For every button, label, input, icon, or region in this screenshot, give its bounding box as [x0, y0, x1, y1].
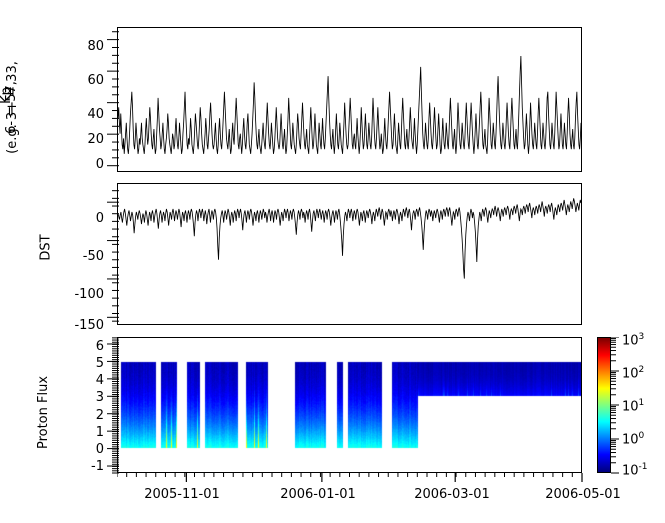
dst-ylabel: DST	[39, 234, 54, 260]
kp-ytick-0: 0	[70, 157, 104, 172]
colorbar-gradient	[597, 337, 611, 473]
kp-plot-area	[117, 27, 582, 172]
dst-series-svg	[118, 184, 581, 324]
kp-ytick-60: 60	[70, 73, 104, 88]
dst-ytick-m150: -150	[58, 318, 104, 333]
cbar-label-1e1: 101	[622, 398, 644, 414]
flux-spectrogram	[118, 338, 581, 472]
colorbar-tick-marks	[611, 337, 621, 474]
xtick-2006-05-01: 2006-05-01	[533, 487, 633, 502]
flux-ytick-0: 0	[74, 442, 104, 457]
dst-ytick-0: 0	[58, 211, 104, 226]
flux-ylabel: Proton Flux	[36, 376, 51, 449]
flux-ytick-6: 6	[74, 339, 104, 354]
cbar-label-1e3: 103	[622, 332, 644, 348]
flux-ytick-m1: -1	[68, 459, 104, 474]
flux-ytick-2: 2	[74, 408, 104, 423]
cbar-label-1em1: 10-1	[622, 462, 648, 478]
dst-ytick-m100: -100	[58, 287, 104, 302]
flux-ytick-5: 5	[74, 356, 104, 371]
dst-ytick-marks	[104, 183, 120, 326]
cbar-label-1e0: 100	[622, 431, 644, 447]
xtick-2006-03-01: 2006-03-01	[402, 487, 502, 502]
kp-ylabel-line3: 6- = 57,	[4, 81, 19, 134]
kp-ytick-80: 80	[70, 39, 104, 54]
flux-ytick-1: 1	[74, 425, 104, 440]
dst-plot-area	[117, 183, 582, 325]
flux-plot-area	[117, 337, 582, 473]
kp-series-svg	[118, 28, 581, 171]
cbar-label-1e2: 102	[622, 365, 644, 381]
xtick-2005-11-01: 2005-11-01	[132, 487, 232, 502]
kp-ytick-20: 20	[70, 132, 104, 147]
flux-ytick-marks	[104, 337, 120, 474]
figure-root: Kp (e.g. 3+ = 33, 6- = 57, 4 = 40, etc.)…	[0, 0, 665, 523]
kp-ytick-marks	[104, 20, 120, 180]
flux-ytick-3: 3	[74, 390, 104, 405]
xaxis-tick-marks	[117, 473, 583, 485]
kp-ytick-40: 40	[70, 107, 104, 122]
flux-ytick-4: 4	[74, 373, 104, 388]
xtick-2006-01-01: 2006-01-01	[268, 487, 368, 502]
dst-ytick-m50: -50	[58, 249, 104, 264]
